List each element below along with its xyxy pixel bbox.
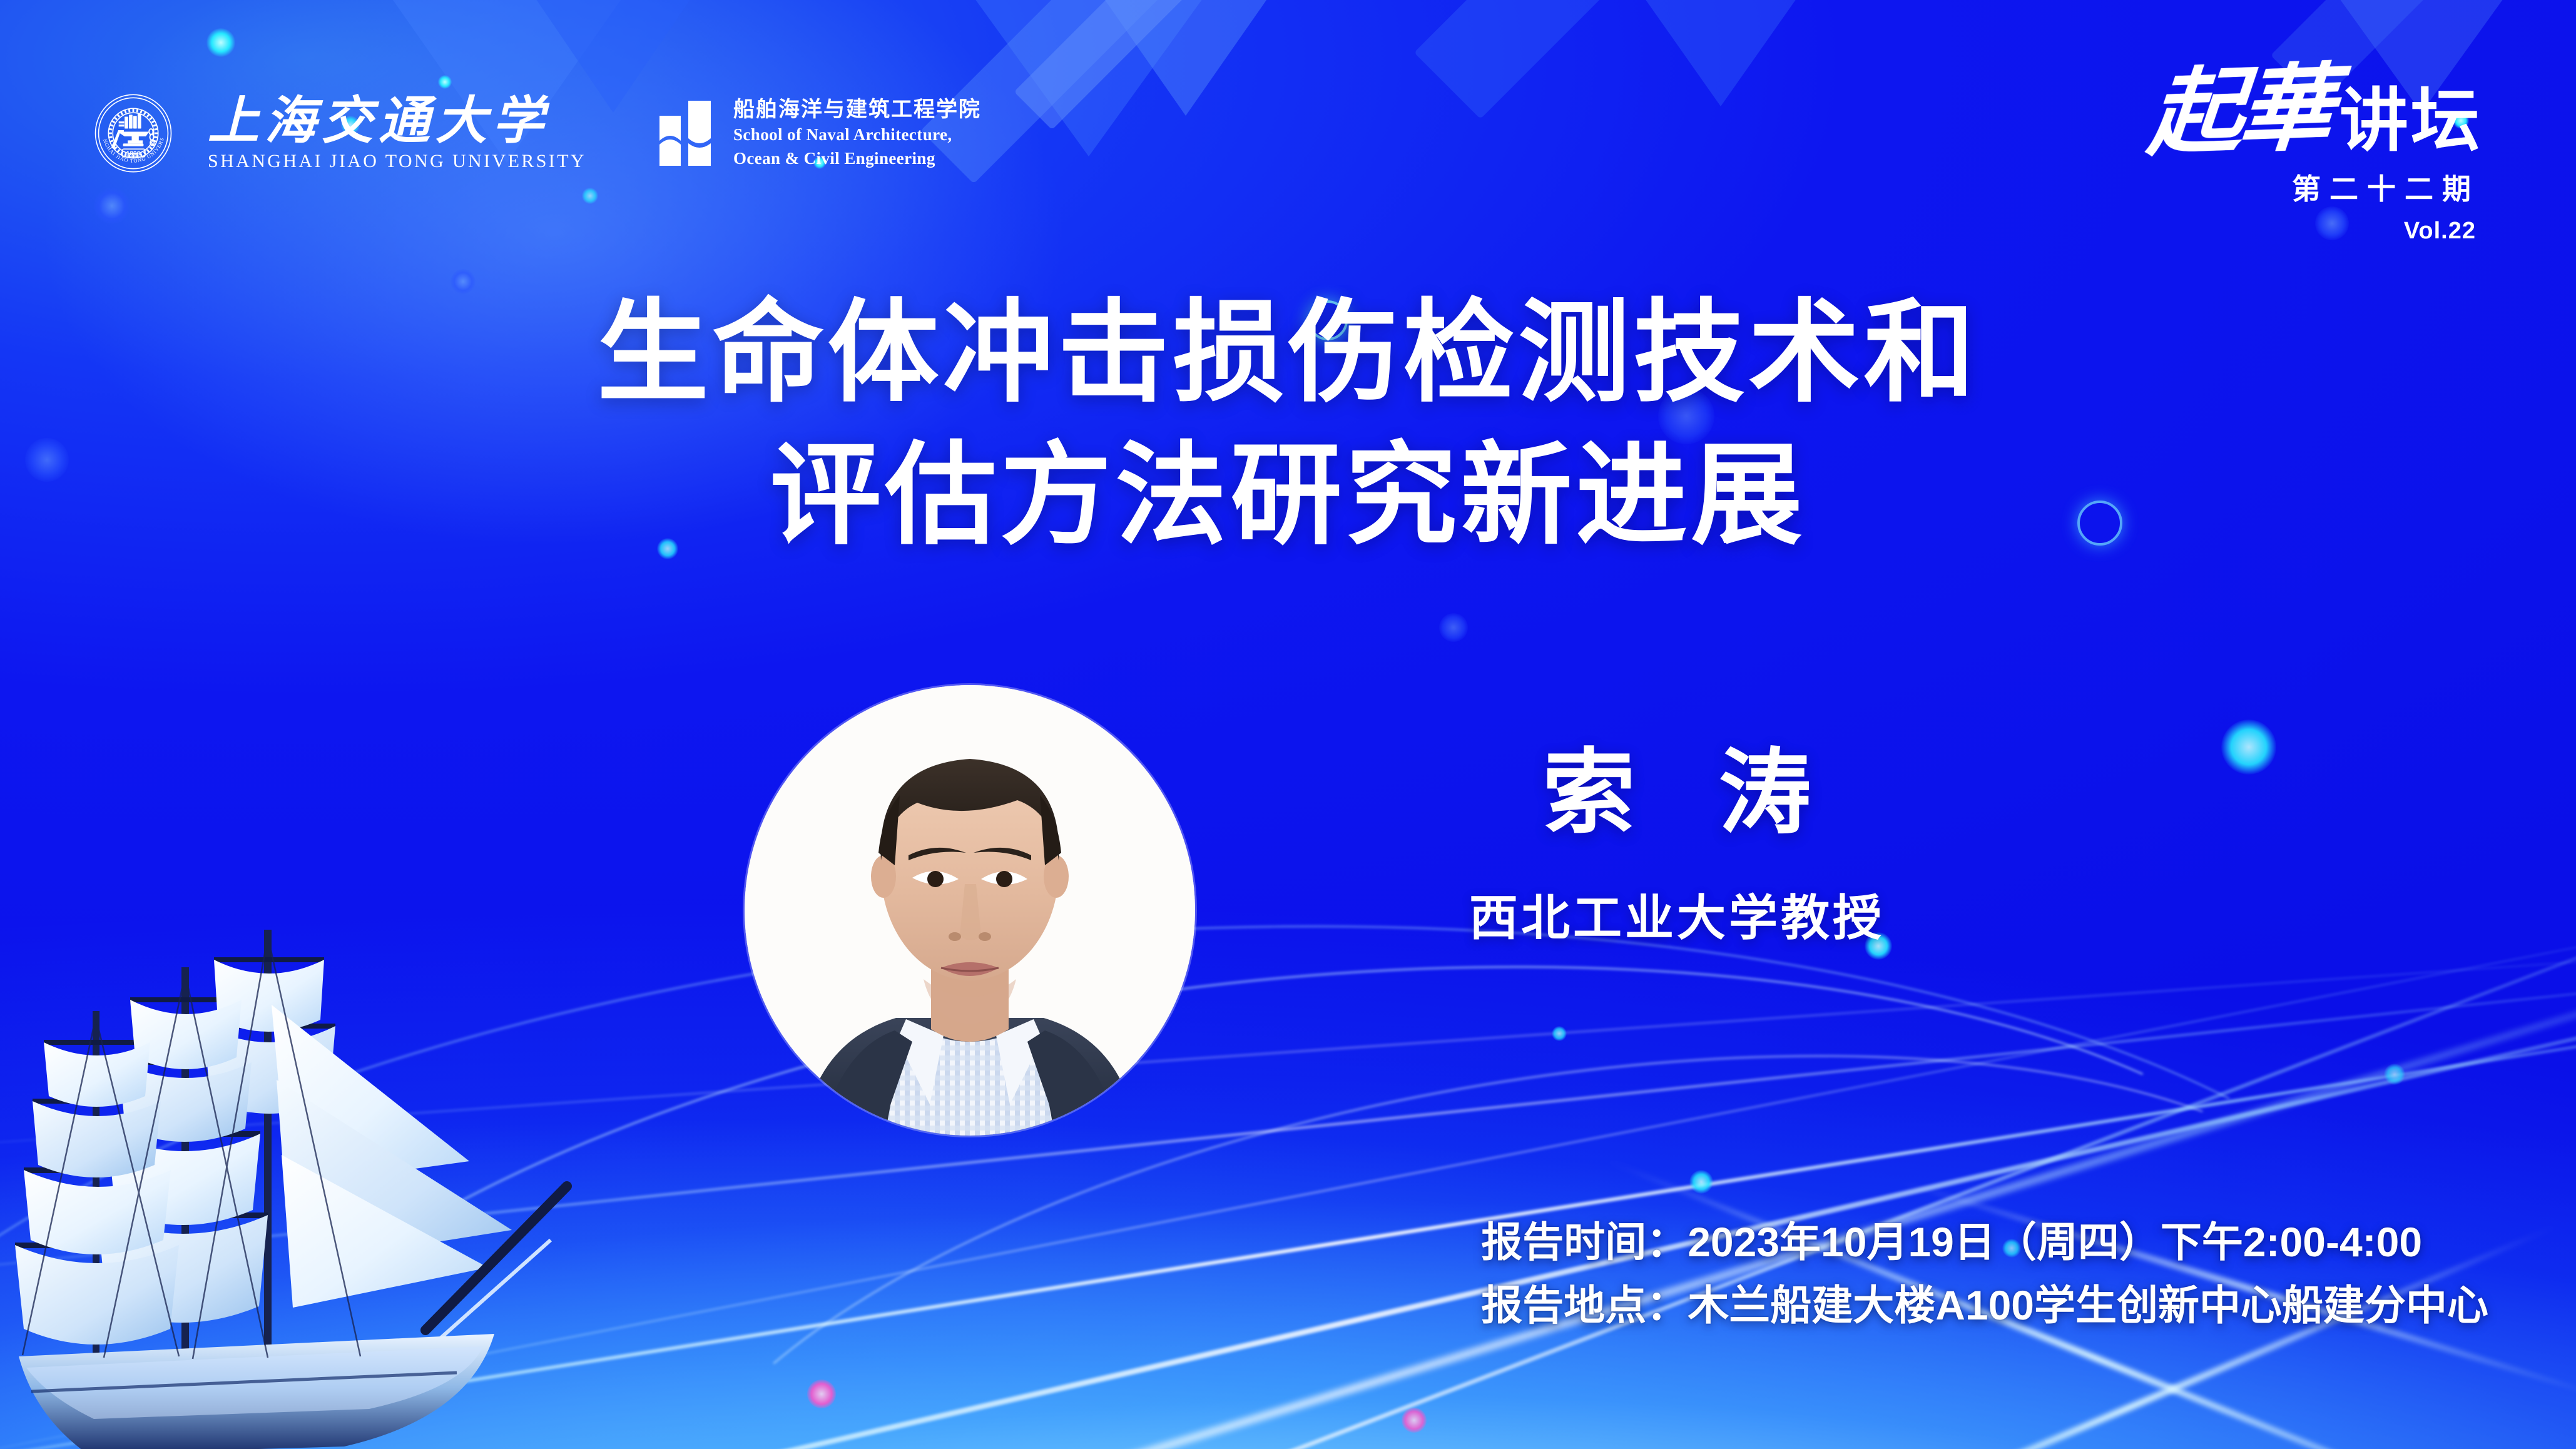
logo-divider xyxy=(621,96,623,171)
poster-title: 生命体冲击损伤检测技术和 评估方法研究新进展 xyxy=(0,282,2576,567)
poster-title-line-2: 评估方法研究新进展 xyxy=(0,424,2576,567)
school-name-cn: 船舶海洋与建筑工程学院 xyxy=(733,98,981,121)
poster-title-line-1: 生命体冲击损伤检测技术和 xyxy=(0,282,2576,424)
forum-issue-label: 第二十二期 xyxy=(2149,166,2482,208)
forum-word-title: 讲坛 xyxy=(2339,88,2482,155)
sjtu-seal-logo: 1896 SHANGHAI JIAO TONG UNIVERSITY xyxy=(94,94,173,173)
sjtu-name-cn: 上海交通大学 xyxy=(208,96,586,147)
seal-year-text: 1896 xyxy=(126,150,141,157)
sjtu-wordmark: 上海交通大学 SHANGHAI JIAO TONG UNIVERSITY xyxy=(208,96,586,171)
event-info-block: 报告时间：2023年10月19日（周四）下午2:00-4:00 报告地点：木兰船… xyxy=(1481,1211,2488,1336)
school-wave-mark-icon xyxy=(658,99,712,167)
event-time-line: 报告时间：2023年10月19日（周四）下午2:00-4:00 xyxy=(1481,1211,2488,1273)
school-wordmark: 船舶海洋与建筑工程学院 School of Naval Architecture… xyxy=(733,98,981,168)
forum-brand-block: 起華 讲坛 第二十二期 Vol.22 xyxy=(2149,69,2482,245)
speaker-portrait-photo xyxy=(745,685,1195,1136)
speaker-affiliation: 西北工业大学教授 xyxy=(1364,879,1990,949)
school-logo-group: 船舶海洋与建筑工程学院 School of Naval Architecture… xyxy=(658,98,981,168)
event-place-line: 报告地点：木兰船建大楼A100学生创新中心船建分中心 xyxy=(1481,1274,2488,1336)
sailing-ship-illustration xyxy=(0,892,619,1449)
speaker-block: 索 涛 西北工业大学教授 xyxy=(1364,745,1990,949)
speaker-name: 索 涛 xyxy=(1364,745,1990,841)
school-name-en-line2: Ocean & Civil Engineering xyxy=(733,149,981,168)
lecture-poster: 1896 SHANGHAI JIAO TONG UNIVERSITY 上海交通大… xyxy=(0,0,2576,1449)
forum-volume-label: Vol.22 xyxy=(2149,218,2482,245)
logo-bar: 1896 SHANGHAI JIAO TONG UNIVERSITY 上海交通大… xyxy=(94,94,981,173)
sjtu-name-en: SHANGHAI JIAO TONG UNIVERSITY xyxy=(208,152,586,171)
school-name-en-line1: School of Naval Architecture, xyxy=(733,125,981,145)
forum-calligraphy-title: 起華 xyxy=(2145,66,2333,158)
